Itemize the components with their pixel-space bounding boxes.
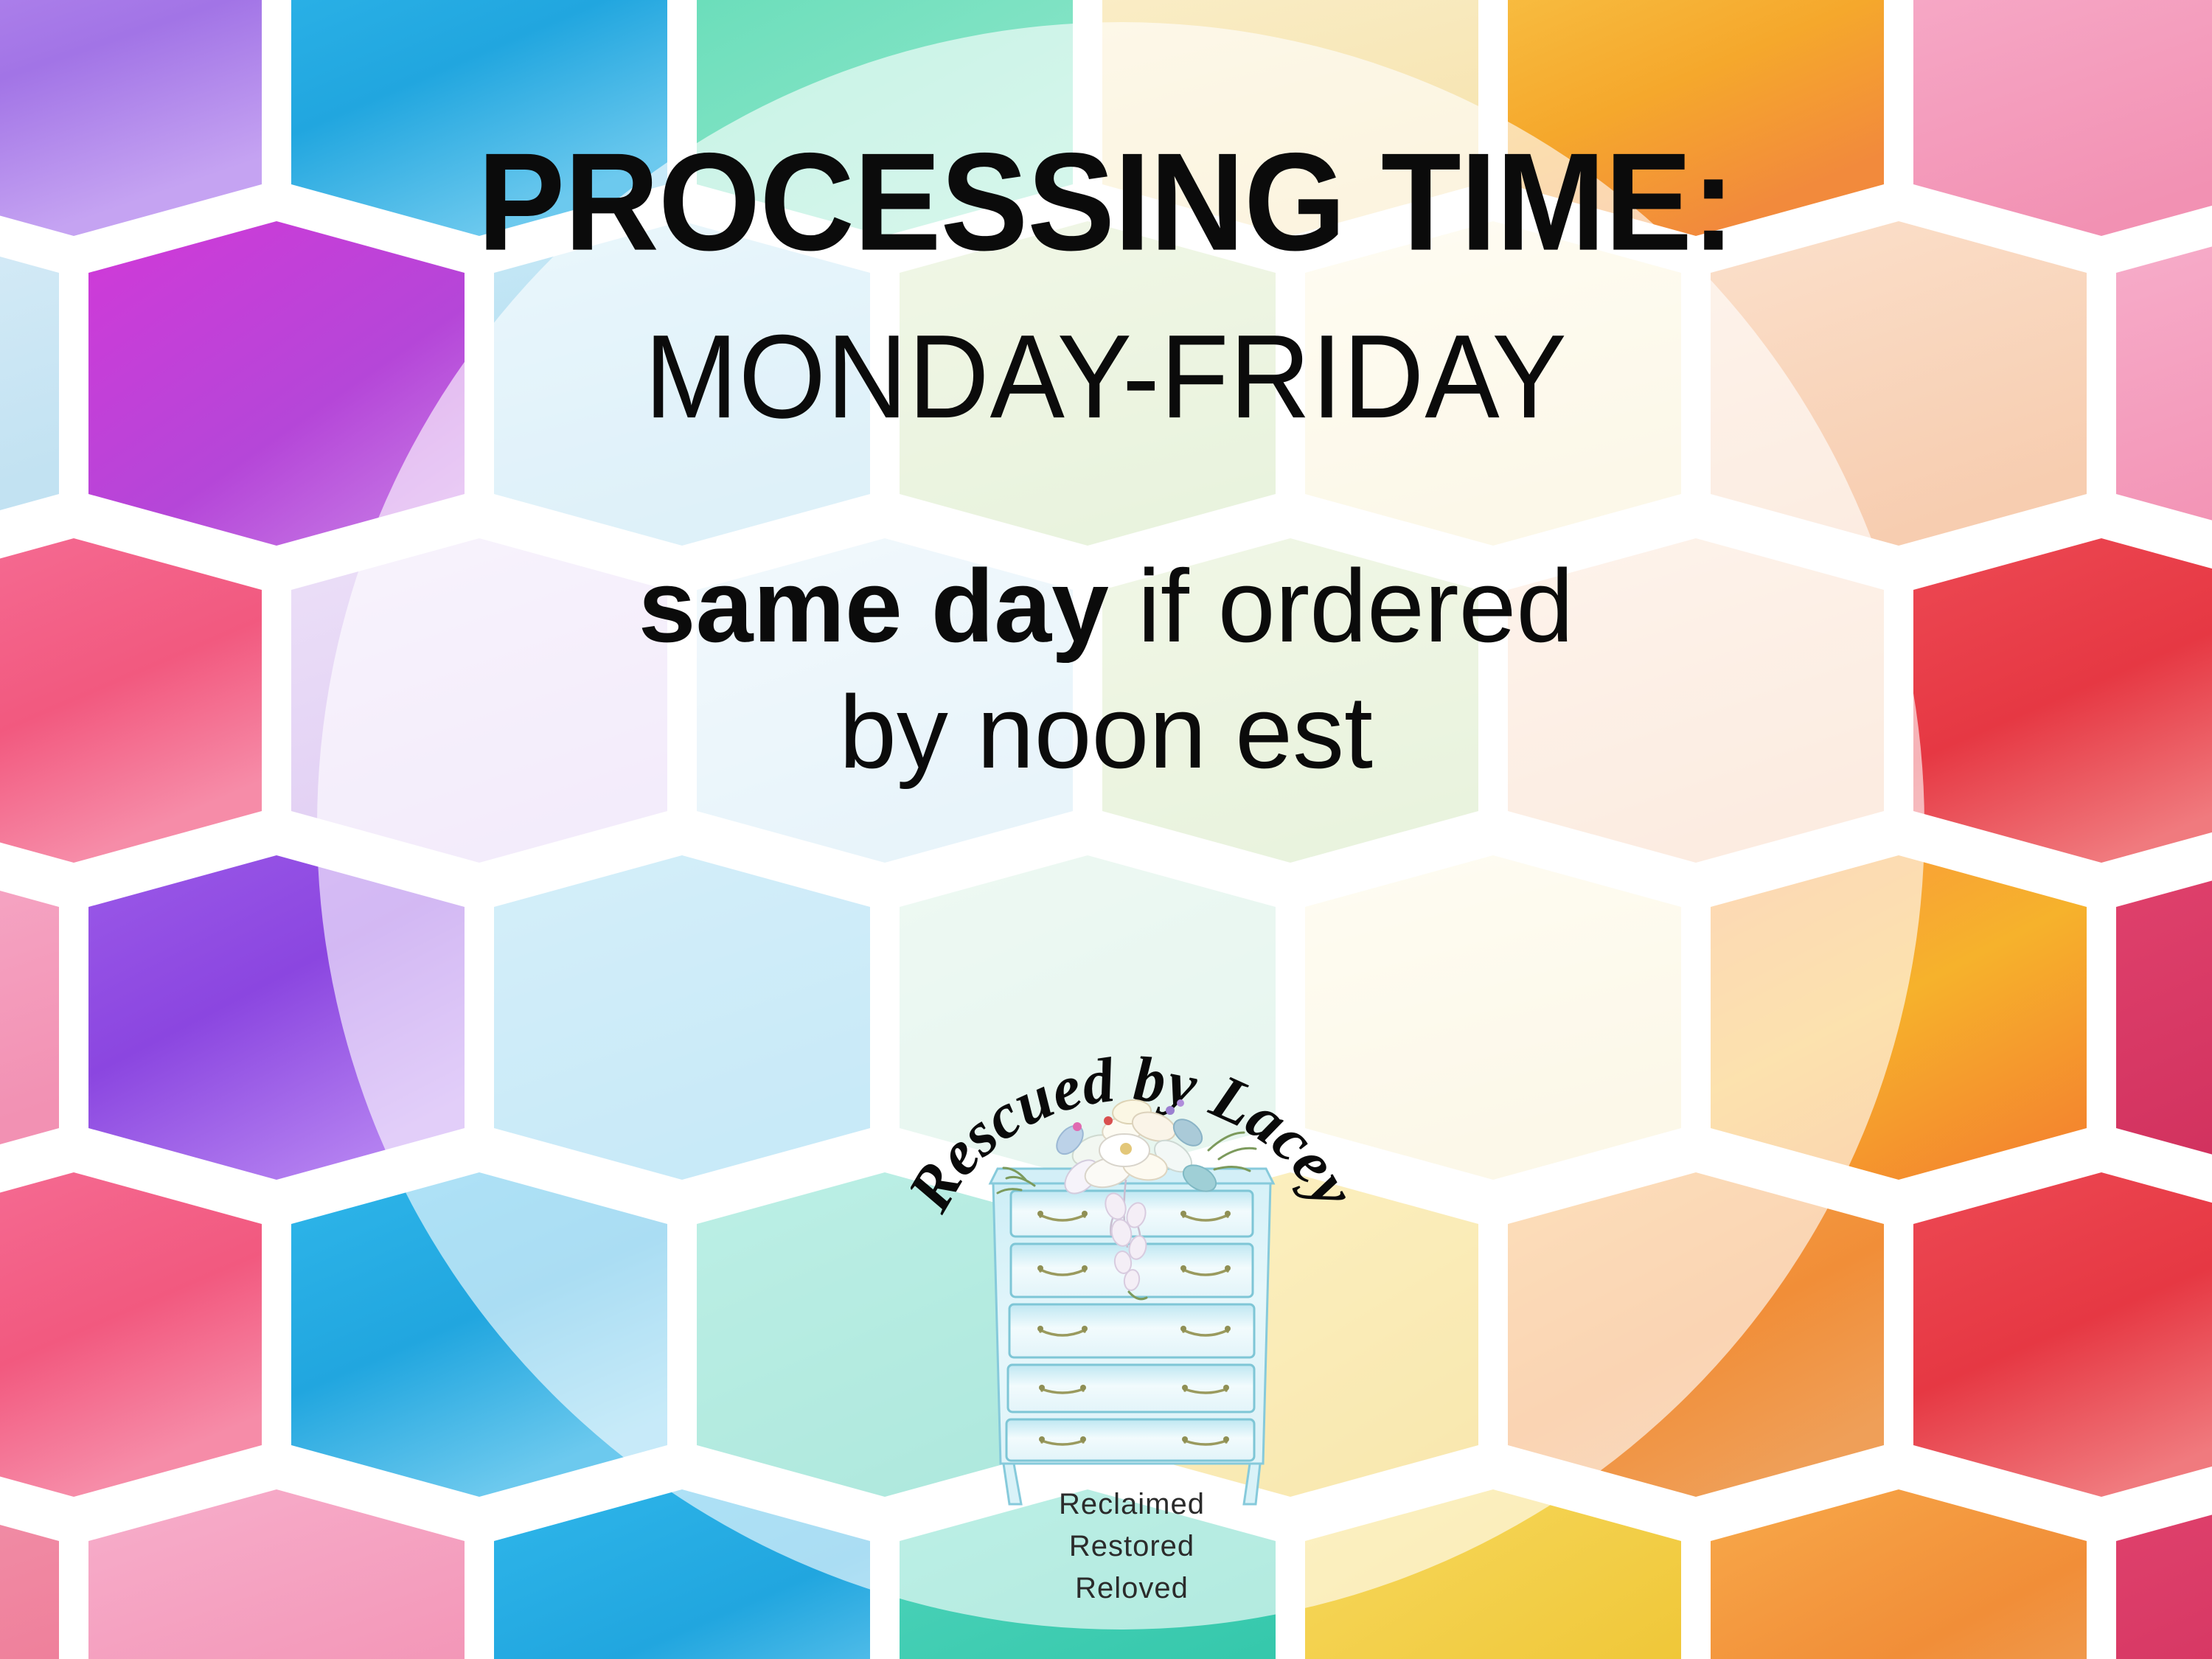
tagline-line-2: Restored — [911, 1526, 1353, 1568]
tagline-line-3: Reloved — [911, 1568, 1353, 1610]
hex-row-b — [0, 221, 2212, 546]
tagline-line-1: Reclaimed — [911, 1484, 1353, 1526]
poster-canvas: PROCESSING TIME: MONDAY-FRIDAY same day … — [0, 0, 2212, 1659]
brand-logo: Rescued by Lacey — [911, 1032, 1353, 1615]
logo-tagline: Reclaimed Restored Reloved — [911, 1484, 1353, 1609]
